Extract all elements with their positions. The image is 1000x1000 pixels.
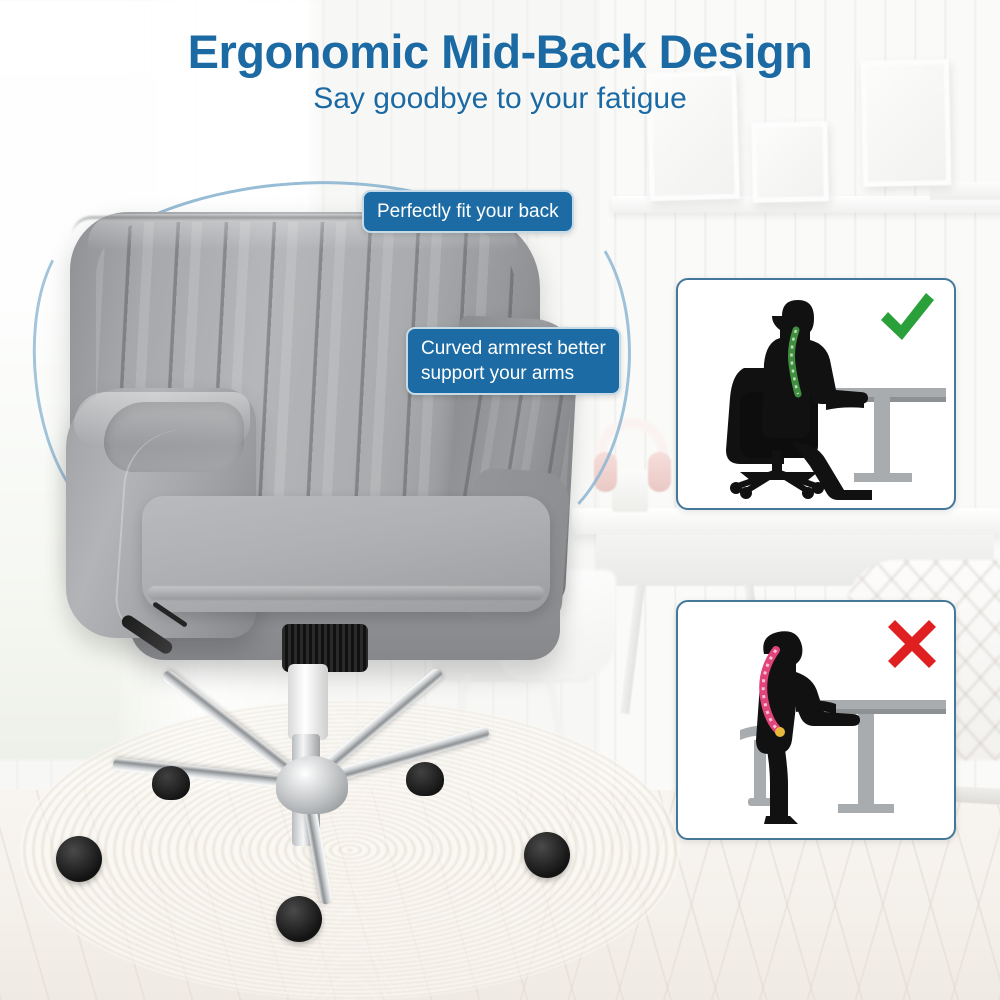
caster-wheel [152, 766, 190, 800]
base-hub [276, 756, 348, 814]
gas-lift-cylinder [288, 664, 328, 740]
caster-wheel [524, 832, 570, 878]
product-marketing-image: Ergonomic Mid-Back Design Say goodbye to… [0, 0, 1000, 1000]
red-cross-icon [884, 616, 940, 672]
page-subtitle: Say goodbye to your fatigue [0, 82, 1000, 116]
seat-cushion-piping [148, 586, 544, 600]
page-title: Ergonomic Mid-Back Design [0, 24, 1000, 79]
good-posture-panel [676, 278, 956, 510]
badge-fit-back: Perfectly fit your back [362, 190, 574, 233]
bad-posture-panel [676, 600, 956, 840]
caster-wheel [276, 896, 322, 942]
caster-wheel [56, 836, 102, 882]
green-check-icon [876, 290, 938, 348]
badge-curved-armrest: Curved armrest better support your arms [406, 327, 621, 395]
caster-wheel [406, 762, 444, 796]
